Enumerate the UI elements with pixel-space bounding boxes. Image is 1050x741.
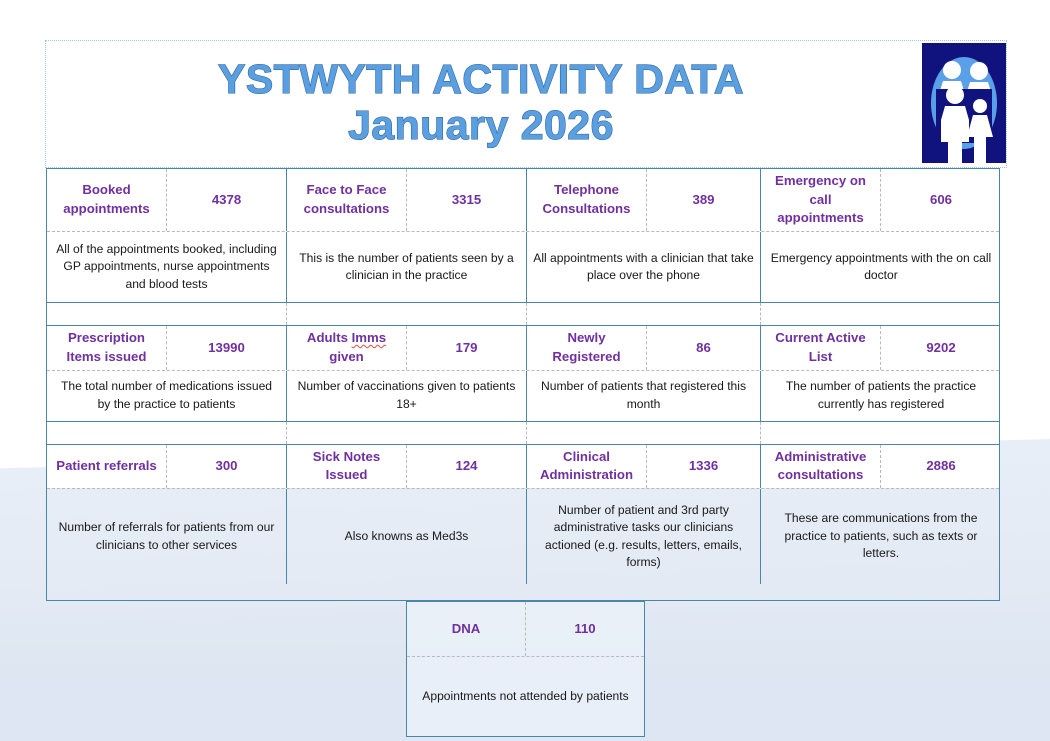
title-line-primary: YSTWYTH ACTIVITY DATA <box>218 57 744 103</box>
metric-description: Number of referrals for patients from ou… <box>47 489 287 584</box>
metric-value: 179 <box>407 326 526 369</box>
metric-label: Face to Face consultations <box>287 169 407 231</box>
table-block-1: Booked appointments 4378 Face to Face co… <box>47 169 999 302</box>
metric-label: Adults Imms given <box>287 326 407 369</box>
metric-description: Number of vaccinations given to patients… <box>287 371 527 421</box>
metric-description: The total number of medications issued b… <box>47 371 287 421</box>
metric-label: Newly Registered <box>527 326 647 369</box>
metric-value: 13990 <box>167 326 286 369</box>
metric-adults-imms-given[interactable]: Adults Imms given 179 <box>287 326 527 369</box>
metric-description: Also knowns as Med3s <box>287 489 527 584</box>
metric-description: All appointments with a clinician that t… <box>527 232 761 302</box>
metric-label: Booked appointments <box>47 169 167 231</box>
table-row-descriptions: The total number of medications issued b… <box>47 370 999 421</box>
metric-current-active-list[interactable]: Current Active List 9202 <box>761 326 1001 369</box>
metric-telephone-consultations[interactable]: Telephone Consultations 389 <box>527 169 761 231</box>
metric-value: 2886 <box>881 445 1001 488</box>
metric-description: This is the number of patients seen by a… <box>287 232 527 302</box>
metric-patient-referrals[interactable]: Patient referrals 300 <box>47 445 287 488</box>
table-row: DNA 110 <box>407 602 644 656</box>
dna-table: DNA 110 Appointments not attended by pat… <box>406 601 645 737</box>
metric-label: Telephone Consultations <box>527 169 647 231</box>
metric-label: DNA <box>407 602 526 656</box>
table-row-descriptions: Number of referrals for patients from ou… <box>47 488 999 584</box>
metric-value: 1336 <box>647 445 760 488</box>
metric-description: Number of patients that registered this … <box>527 371 761 421</box>
practice-logo <box>922 43 1006 163</box>
metric-sick-notes-issued[interactable]: Sick Notes Issued 124 <box>287 445 527 488</box>
metric-description: These are communications from the practi… <box>761 489 1001 584</box>
metric-newly-registered[interactable]: Newly Registered 86 <box>527 326 761 369</box>
metric-value: 300 <box>167 445 286 488</box>
metric-label: Current Active List <box>761 326 881 369</box>
table-row: Booked appointments 4378 Face to Face co… <box>47 169 999 231</box>
metric-label: Sick Notes Issued <box>287 445 407 488</box>
metric-value: 124 <box>407 445 526 488</box>
family-logo-icon <box>922 43 1006 163</box>
metric-label: Clinical Administration <box>527 445 647 488</box>
metric-value: 9202 <box>881 326 1001 369</box>
metric-value: 606 <box>881 169 1001 231</box>
metric-label-pre: Adults <box>307 330 352 345</box>
metric-prescription-items-issued[interactable]: Prescription Items issued 13990 <box>47 326 287 369</box>
metric-administrative-consultations[interactable]: Administrative consultations 2886 <box>761 445 1001 488</box>
page-title[interactable]: YSTWYTH ACTIVITY DATA January 2026 <box>46 42 916 164</box>
table-spacer-row-2 <box>47 421 999 445</box>
metric-description: The number of patients the practice curr… <box>761 371 1001 421</box>
activity-data-table: Booked appointments 4378 Face to Face co… <box>46 168 1000 601</box>
metric-label: Prescription Items issued <box>47 326 167 369</box>
table-row: Prescription Items issued 13990 Adults I… <box>47 326 999 369</box>
metric-label-post: given <box>329 349 363 364</box>
metric-face-to-face-consultations[interactable]: Face to Face consultations 3315 <box>287 169 527 231</box>
metric-description: Emergency appointments with the on call … <box>761 232 1001 302</box>
metric-value: 4378 <box>167 169 286 231</box>
metric-value: 86 <box>647 326 760 369</box>
metric-description: All of the appointments booked, includin… <box>47 232 287 302</box>
metric-description: Appointments not attended by patients <box>407 657 644 736</box>
metric-booked-appointments[interactable]: Booked appointments 4378 <box>47 169 287 231</box>
table-row-descriptions: Appointments not attended by patients <box>407 656 644 736</box>
metric-clinical-administration[interactable]: Clinical Administration 1336 <box>527 445 761 488</box>
title-line-secondary: January 2026 <box>348 103 614 149</box>
metric-emergency-on-call-appointments[interactable]: Emergency on call appointments 606 <box>761 169 1001 231</box>
metric-label: Patient referrals <box>47 445 167 488</box>
metric-label-misspelled-word: Imms <box>352 330 386 345</box>
metric-value: 110 <box>526 602 644 656</box>
table-block-3: Patient referrals 300 Sick Notes Issued … <box>47 445 999 584</box>
table-spacer-row-1 <box>47 302 999 326</box>
metric-label: Administrative consultations <box>761 445 881 488</box>
table-row: Patient referrals 300 Sick Notes Issued … <box>47 445 999 488</box>
metric-value: 389 <box>647 169 760 231</box>
metric-value: 3315 <box>407 169 526 231</box>
table-row-descriptions: All of the appointments booked, includin… <box>47 231 999 302</box>
metric-description: Number of patient and 3rd party administ… <box>527 489 761 584</box>
slide-canvas: YSTWYTH ACTIVITY DATA January 2026 <box>0 0 1050 741</box>
table-block-2: Prescription Items issued 13990 Adults I… <box>47 326 999 420</box>
metric-label: Emergency on call appointments <box>761 169 881 231</box>
